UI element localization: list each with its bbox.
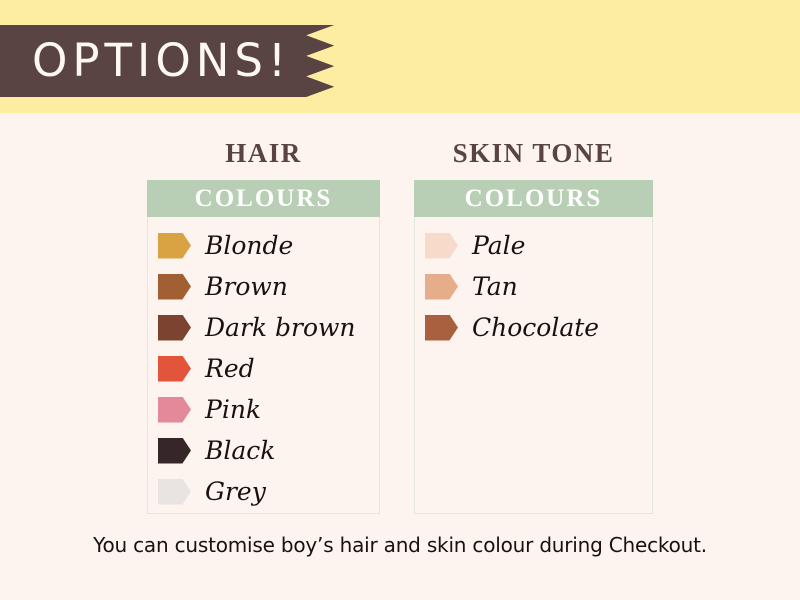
swatch-row[interactable]: Grey <box>158 471 379 512</box>
colour-swatch-icon <box>158 315 191 341</box>
options-infographic: OPTIONS! HAIR COLOURS BlondeBrownDark br… <box>0 0 800 600</box>
hair-column-title: HAIR <box>147 136 380 170</box>
swatch-row[interactable]: Brown <box>158 266 379 307</box>
swatch-row[interactable]: Black <box>158 430 379 471</box>
skin-tone-colours-column: SKIN TONE COLOURS PaleTanChocolate <box>414 136 653 514</box>
swatch-label: Red <box>205 356 255 382</box>
colour-swatch-icon <box>158 274 191 300</box>
hair-colours-column: HAIR COLOURS BlondeBrownDark brownRedPin… <box>147 136 380 514</box>
swatch-label: Tan <box>472 274 518 300</box>
footer-caption: You can customise boy’s hair and skin co… <box>0 533 800 557</box>
swatch-row[interactable]: Pale <box>425 225 652 266</box>
ribbon-zigzag-icon <box>306 25 334 97</box>
swatch-label: Brown <box>205 274 288 300</box>
swatch-label: Pale <box>472 233 525 259</box>
options-ribbon-banner: OPTIONS! <box>0 25 334 97</box>
swatch-label: Chocolate <box>472 315 599 341</box>
skin-swatch-list: PaleTanChocolate <box>415 217 652 348</box>
swatch-row[interactable]: Red <box>158 348 379 389</box>
swatch-row[interactable]: Pink <box>158 389 379 430</box>
swatch-label: Black <box>205 438 275 464</box>
colour-swatch-icon <box>425 233 458 259</box>
hair-swatch-list: BlondeBrownDark brownRedPinkBlackGrey <box>148 217 379 512</box>
swatch-label: Blonde <box>205 233 293 259</box>
swatch-label: Dark brown <box>205 315 356 341</box>
colour-swatch-icon <box>158 397 191 423</box>
swatch-row[interactable]: Chocolate <box>425 307 652 348</box>
skin-colours-panel: COLOURS PaleTanChocolate <box>414 180 653 514</box>
colour-swatch-icon <box>425 315 458 341</box>
swatch-row[interactable]: Tan <box>425 266 652 307</box>
colour-swatch-icon <box>158 479 191 505</box>
hair-panel-header: COLOURS <box>147 180 380 217</box>
hair-colours-panel: COLOURS BlondeBrownDark brownRedPinkBlac… <box>147 180 380 514</box>
banner-title: OPTIONS! <box>32 25 291 97</box>
swatch-label: Grey <box>205 479 266 505</box>
swatch-label: Pink <box>205 397 261 423</box>
skin-panel-header: COLOURS <box>414 180 653 217</box>
swatch-row[interactable]: Dark brown <box>158 307 379 348</box>
swatch-row[interactable]: Blonde <box>158 225 379 266</box>
colour-swatch-icon <box>158 356 191 382</box>
colour-swatch-icon <box>158 233 191 259</box>
colour-swatch-icon <box>425 274 458 300</box>
colour-swatch-icon <box>158 438 191 464</box>
skin-column-title: SKIN TONE <box>414 136 653 170</box>
